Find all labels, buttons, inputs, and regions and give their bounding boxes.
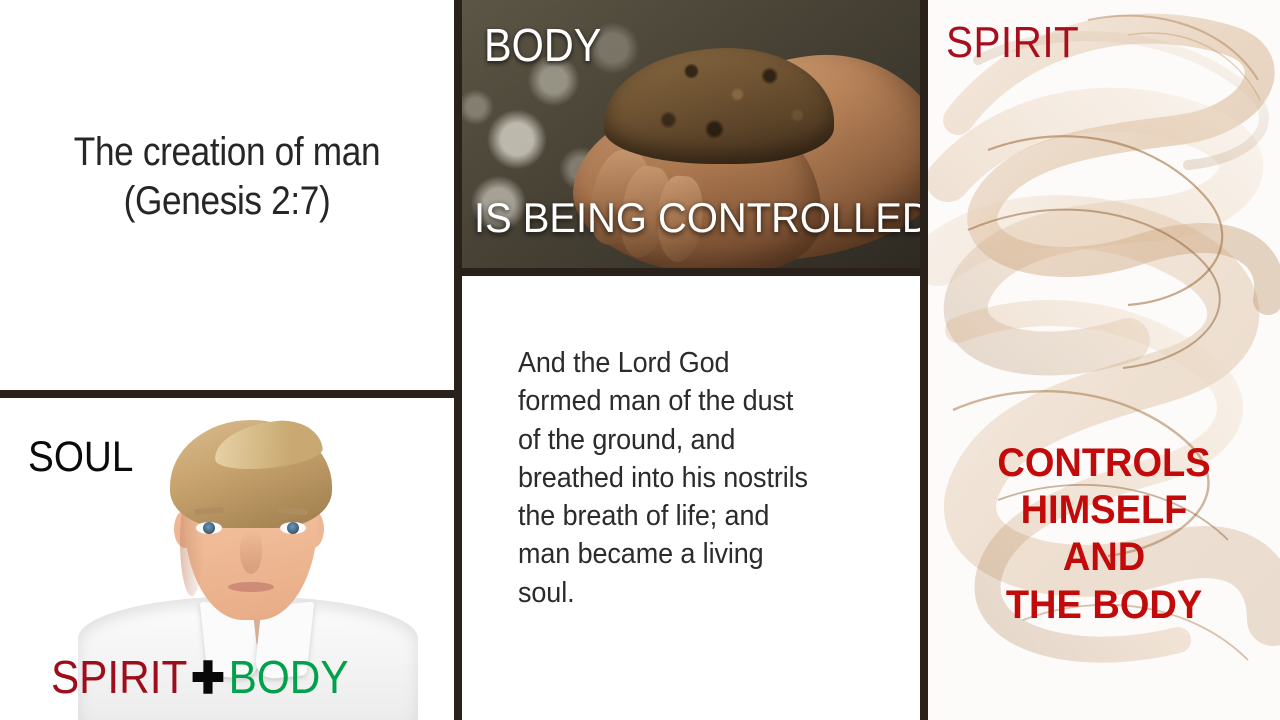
body-label-bottom: IS BEING CONTROLLED <box>474 194 920 242</box>
iris-right-shape <box>287 522 299 534</box>
left-column: The creation of man (Genesis 2:7) SOUL <box>0 0 454 720</box>
page-title: The creation of man (Genesis 2:7) <box>27 128 427 226</box>
middle-column: BODY IS BEING CONTROLLED And the Lord Go… <box>462 0 920 720</box>
body-photo-panel: BODY IS BEING CONTROLLED <box>462 0 920 268</box>
scripture-text: And the Lord God formed man of the dust … <box>518 344 871 612</box>
divider-middle-right <box>920 0 928 720</box>
soul-caption: SPIRIT✚BODY <box>0 650 400 704</box>
divider-left-middle <box>454 0 462 720</box>
caption-spirit-word: SPIRIT <box>51 651 187 703</box>
spirit-statement: CONTROLS HIMSELF AND THE BODY <box>937 440 1271 629</box>
soul-panel: SOUL <box>0 398 454 720</box>
eye-right-shape <box>280 522 306 534</box>
title-panel: The creation of man (Genesis 2:7) <box>0 0 454 390</box>
divider-left-column <box>0 390 454 398</box>
mouth-shape <box>228 582 274 592</box>
plus-icon: ✚ <box>188 654 229 703</box>
nose-shape <box>240 530 262 574</box>
body-label-top: BODY <box>484 18 601 72</box>
eye-left-shape <box>196 522 222 534</box>
spirit-label: SPIRIT <box>946 18 1079 68</box>
iris-left-shape <box>203 522 215 534</box>
verse-panel: And the Lord God formed man of the dust … <box>462 276 920 720</box>
soul-label: SOUL <box>28 433 133 482</box>
divider-middle-column <box>462 268 920 276</box>
slide-canvas: The creation of man (Genesis 2:7) SOUL <box>0 0 1280 720</box>
caption-body-word: BODY <box>229 651 349 703</box>
spirit-panel: SPIRIT CONTROLS HIMSELF AND THE BODY <box>928 0 1280 720</box>
